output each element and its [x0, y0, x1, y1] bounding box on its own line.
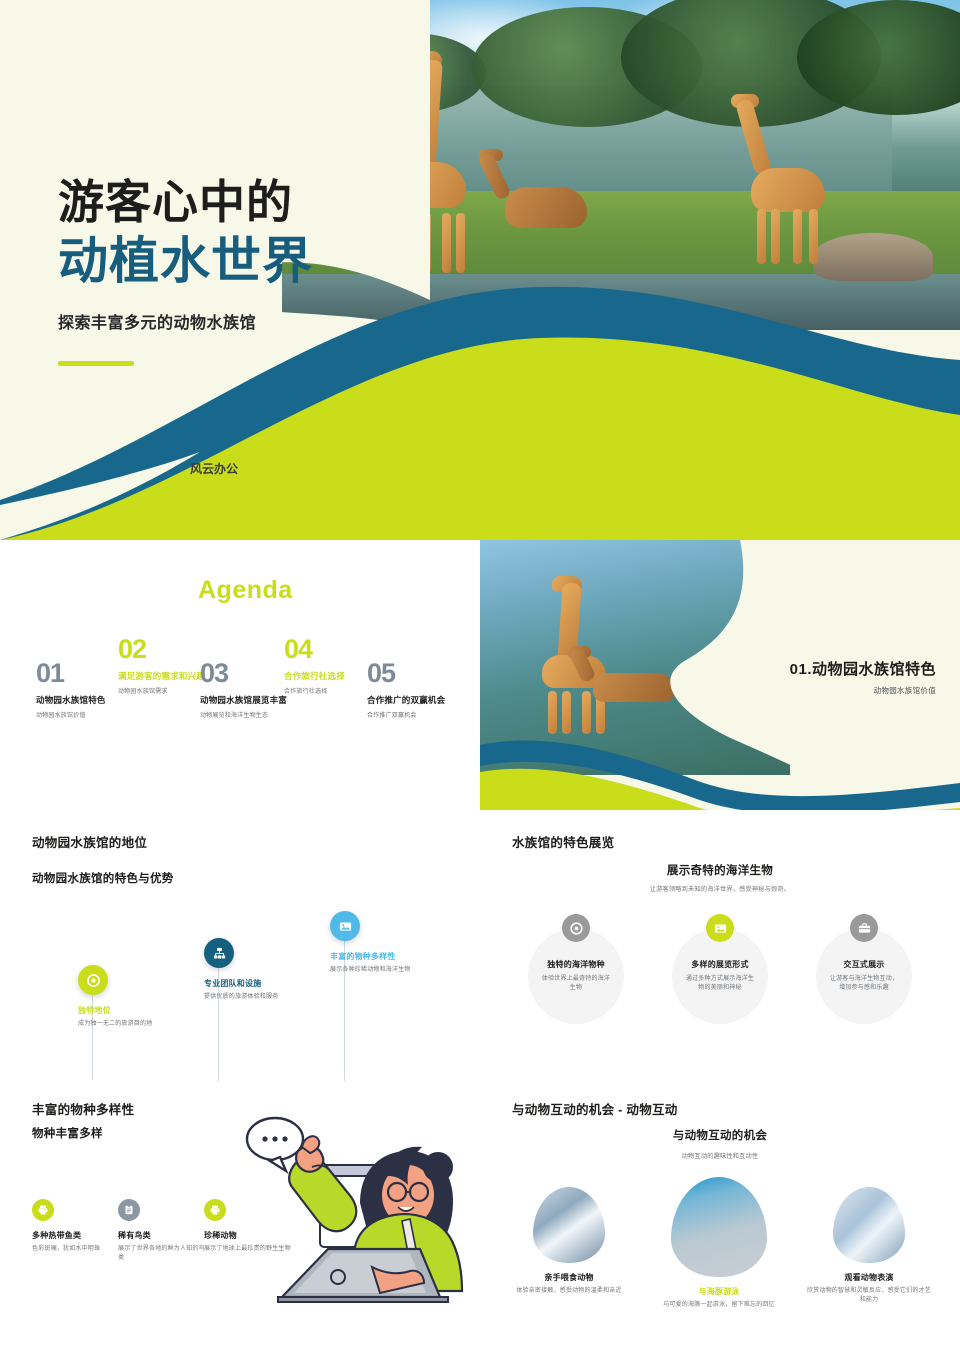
- content-row-1: 动物园水族馆的地位 动物园水族馆的特色与优势 独特地位 成为独一无二的旅游目的地: [0, 810, 960, 1081]
- species-kicker: 丰富的物种多样性: [32, 1099, 134, 1118]
- exhibit-desc: 体验世界上最奇特的海洋生物: [539, 975, 613, 994]
- image-icon: [713, 921, 728, 936]
- agenda-number: 04: [284, 636, 416, 663]
- timeline-text: 丰富的物种多样性 展示各种珍稀动物和海洋生物: [330, 951, 414, 975]
- agenda-left-panel: Agenda 01 动物园水族馆特色 动物园水族馆价值 02 满足游客的需求和兴…: [0, 540, 480, 810]
- printer-icon: [209, 1204, 221, 1216]
- timeline-subtitle: 动物园水族馆的特色与优势: [32, 870, 174, 886]
- exhibit-circle-3[interactable]: 交互式展示 让游客与海洋生物互动，增加参与感和乐趣: [816, 928, 912, 1024]
- timeline-kicker: 动物园水族馆的地位: [32, 832, 147, 851]
- interaction-center-sub: 动物互动的趣味性和互动性: [480, 1151, 960, 1160]
- exhibit-circle-1[interactable]: 独特的海洋物种 体验世界上最奇特的海洋生物: [528, 928, 624, 1024]
- exhibits-kicker: 水族馆的特色展览: [512, 832, 614, 851]
- clipboard-icon-badge: [118, 1199, 140, 1221]
- species-item-2[interactable]: 稀有鸟类 展示了世界各地的鲜为人知的鸟类: [118, 1199, 208, 1263]
- interaction-slide: 与动物互动的机会 - 动物互动 与动物互动的机会 动物互动的趣味性和互动性 亲手…: [480, 1081, 960, 1352]
- target-icon: [86, 973, 101, 988]
- timeline-desc: 成为独一无二的旅游目的地: [78, 1020, 162, 1029]
- timeline-text: 专业团队和设施 提供优质的旅游体验和服务: [204, 978, 288, 1002]
- woman-laptop-illustration: [242, 1107, 472, 1317]
- interaction-photo-blob: [533, 1187, 605, 1263]
- exhibit-badge: [562, 914, 590, 942]
- printer-icon-badge: [32, 1199, 54, 1221]
- exhibit-desc: 让游客与海洋生物互动，增加参与感和乐趣: [827, 975, 901, 994]
- interaction-photo-blob: [833, 1187, 905, 1263]
- title-subtitle: 探索丰富多元的动物水族馆: [58, 309, 478, 333]
- title-divider-rule: [58, 361, 134, 366]
- timeline-heading: 丰富的物种多样性: [330, 951, 414, 962]
- exhibits-slide: 水族馆的特色展览 展示奇特的海洋生物 让游客领略到未知的海洋世界，感受神秘与惊奇…: [480, 810, 960, 1081]
- exhibits-center-sub: 让游客领略到未知的海洋世界，感受神秘与惊奇。: [480, 884, 960, 893]
- interaction-heading: 亲手喂食动物: [504, 1272, 634, 1283]
- title-slide: 游客心中的 动植水世界 探索丰富多元的动物水族馆 风云办公: [0, 0, 960, 540]
- interaction-item-2[interactable]: 与海豚游泳 与可爱的海豚一起游泳，留下难忘的回忆: [654, 1177, 784, 1310]
- exhibit-heading: 独特的海洋物种: [547, 959, 604, 970]
- exhibit-desc: 通过多种方式展示海洋生物的美丽和神秘: [683, 975, 757, 994]
- title-line-2: 动植水世界: [58, 231, 478, 291]
- printer-icon-badge: [204, 1199, 226, 1221]
- agenda-item-title: 动物园水族馆展览丰富: [200, 694, 332, 706]
- title-block: 游客心中的 动植水世界 探索丰富多元的动物水族馆: [58, 176, 478, 366]
- interaction-heading: 观看动物表演: [804, 1272, 934, 1283]
- interaction-item-3[interactable]: 观看动物表演 欣赏动物的智慧和灵敏反应，感受它们的才艺和能力: [804, 1187, 934, 1306]
- section-title-block: 01.动物园水族馆特色 动物园水族馆价值: [790, 658, 936, 696]
- species-desc: 色彩斑斓，犹如水中明珠: [32, 1245, 122, 1254]
- interaction-desc: 与可爱的海豚一起游泳，留下难忘的回忆: [654, 1301, 784, 1310]
- title-line-1: 游客心中的: [58, 176, 478, 229]
- slide-deck: 游客心中的 动植水世界 探索丰富多元的动物水族馆 风云办公 Agenda 01 …: [0, 0, 960, 1352]
- interaction-center-title: 与动物互动的机会: [480, 1127, 960, 1143]
- species-desc: 展示了世界各地的鲜为人知的鸟类: [118, 1245, 208, 1263]
- interaction-item-1[interactable]: 亲手喂食动物 体验亲密接触，感受动物的温柔和亲近: [504, 1187, 634, 1296]
- org-chart-icon: [212, 946, 227, 961]
- timeline-slide: 动物园水族馆的地位 动物园水族馆的特色与优势 独特地位 成为独一无二的旅游目的地: [0, 810, 480, 1081]
- exhibit-circle-2[interactable]: 多样的展览形式 通过多种方式展示海洋生物的美丽和神秘: [672, 928, 768, 1024]
- timeline-stem: [92, 990, 93, 1080]
- timeline-dot: [78, 965, 108, 995]
- agenda-item-title: 动物园水族馆特色: [36, 694, 168, 706]
- timeline-dot: [204, 938, 234, 968]
- timeline-heading: 独特地位: [78, 1005, 162, 1016]
- interaction-desc: 体验亲密接触，感受动物的温柔和亲近: [504, 1287, 634, 1296]
- agenda-slide: Agenda 01 动物园水族馆特色 动物园水族馆价值 02 满足游客的需求和兴…: [0, 540, 960, 810]
- agenda-item-desc: 动物园水族馆价值: [36, 710, 168, 719]
- species-heading: 多种热带鱼类: [32, 1230, 122, 1241]
- interaction-photo-blob: [671, 1177, 767, 1277]
- species-item-1[interactable]: 多种热带鱼类 色彩斑斓，犹如水中明珠: [32, 1199, 122, 1254]
- interaction-desc: 欣赏动物的智慧和灵敏反应，感受它们的才艺和能力: [804, 1287, 934, 1306]
- section-divider-slide: 01.动物园水族馆特色 动物园水族馆价值: [480, 540, 960, 810]
- timeline-text: 独特地位 成为独一无二的旅游目的地: [78, 1005, 162, 1029]
- species-subtitle: 物种丰富多样: [32, 1125, 103, 1141]
- printer-icon: [37, 1204, 49, 1216]
- exhibit-heading: 交互式展示: [844, 959, 885, 970]
- interaction-kicker: 与动物互动的机会 - 动物互动: [512, 1099, 678, 1118]
- target-icon: [569, 921, 584, 936]
- agenda-number: 02: [118, 636, 250, 663]
- timeline-heading: 专业团队和设施: [204, 978, 288, 989]
- exhibit-badge: [706, 914, 734, 942]
- species-heading: 稀有鸟类: [118, 1230, 208, 1241]
- title-author: 风云办公: [190, 460, 238, 477]
- image-icon: [338, 919, 353, 934]
- section-title: 01.动物园水族馆特色: [790, 658, 936, 679]
- exhibits-center-title: 展示奇特的海洋生物: [480, 862, 960, 878]
- agenda-heading: Agenda: [198, 576, 293, 605]
- timeline-dot: [330, 911, 360, 941]
- section-subtitle: 动物园水族馆价值: [790, 685, 936, 696]
- briefcase-icon: [857, 921, 872, 936]
- timeline-desc: 展示各种珍稀动物和海洋生物: [330, 966, 414, 975]
- timeline-desc: 提供优质的旅游体验和服务: [204, 993, 288, 1002]
- agenda-item-desc: 动物展览和海洋生物生态: [200, 710, 332, 719]
- exhibit-badge: [850, 914, 878, 942]
- exhibit-heading: 多样的展览形式: [691, 959, 748, 970]
- clipboard-icon: [123, 1204, 135, 1216]
- content-row-2: 丰富的物种多样性 物种丰富多样 多种热带鱼类 色彩斑斓，犹如水中明珠: [0, 1081, 960, 1352]
- species-slide: 丰富的物种多样性 物种丰富多样 多种热带鱼类 色彩斑斓，犹如水中明珠: [0, 1081, 480, 1352]
- interaction-heading: 与海豚游泳: [654, 1286, 784, 1297]
